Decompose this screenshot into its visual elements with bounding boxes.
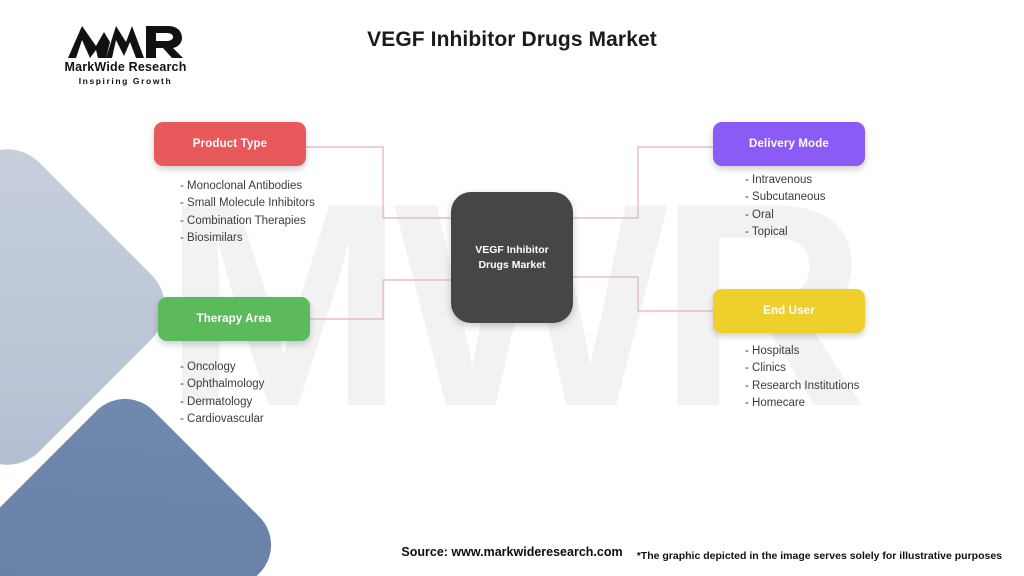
page-title: VEGF Inhibitor Drugs Market: [0, 28, 1024, 52]
list-item: - Biosimilars: [180, 230, 315, 247]
list-item: - Topical: [745, 224, 826, 241]
list-item: - Homecare: [745, 395, 859, 412]
disclaimer-text: *The graphic depicted in the image serve…: [637, 550, 1002, 562]
branch-items-therapy-area: - Oncology - Ophthalmology - Dermatology…: [180, 359, 264, 429]
branch-pill-product-type[interactable]: Product Type: [154, 122, 306, 166]
logo-tagline: Inspiring Growth: [18, 76, 233, 86]
branch-pill-end-user[interactable]: End User: [713, 289, 865, 333]
list-item: - Research Institutions: [745, 378, 859, 395]
branch-label-delivery-mode: Delivery Mode: [749, 138, 829, 150]
connector-therapy-area: [310, 280, 451, 319]
logo-company-name: MarkWide Research: [18, 60, 233, 74]
list-item: - Small Molecule Inhibitors: [180, 195, 315, 212]
list-item: - Monoclonal Antibodies: [180, 178, 315, 195]
connector-end-user: [573, 277, 713, 311]
list-item: - Intravenous: [745, 172, 826, 189]
list-item: - Cardiovascular: [180, 411, 264, 428]
list-item: - Subcutaneous: [745, 189, 826, 206]
center-node-label: VEGF Inhibitor Drugs Market: [451, 243, 573, 273]
branch-pill-delivery-mode[interactable]: Delivery Mode: [713, 122, 865, 166]
list-item: - Ophthalmology: [180, 376, 264, 393]
branch-label-end-user: End User: [763, 305, 815, 317]
infographic-canvas: MWR MarkWide Research Inspiring Growth V…: [0, 0, 1024, 576]
branch-label-therapy-area: Therapy Area: [197, 313, 272, 325]
list-item: - Combination Therapies: [180, 213, 315, 230]
branch-items-end-user: - Hospitals - Clinics - Research Institu…: [745, 343, 859, 413]
list-item: - Hospitals: [745, 343, 859, 360]
branch-pill-therapy-area[interactable]: Therapy Area: [158, 297, 310, 341]
list-item: - Clinics: [745, 360, 859, 377]
list-item: - Dermatology: [180, 394, 264, 411]
branch-items-delivery-mode: - Intravenous - Subcutaneous - Oral - To…: [745, 172, 826, 242]
list-item: - Oncology: [180, 359, 264, 376]
center-node: VEGF Inhibitor Drugs Market: [451, 192, 573, 323]
connector-product-type: [306, 147, 451, 218]
branch-items-product-type: - Monoclonal Antibodies - Small Molecule…: [180, 178, 315, 248]
connector-delivery-mode: [573, 147, 713, 218]
branch-label-product-type: Product Type: [193, 138, 267, 150]
list-item: - Oral: [745, 207, 826, 224]
